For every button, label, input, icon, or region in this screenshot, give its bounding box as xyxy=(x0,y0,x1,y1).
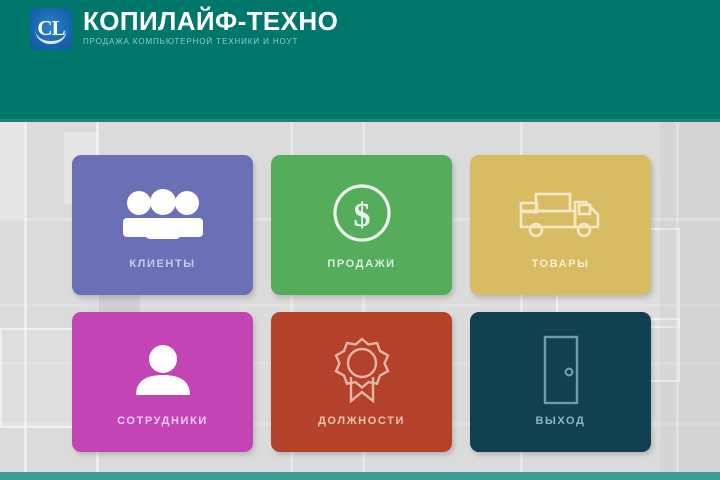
door-exit-icon xyxy=(538,338,584,402)
main-menu-grid: КЛИЕНТЫ $ ПРОДАЖИ xyxy=(72,155,650,452)
menu-tile-clients[interactable]: КЛИЕНТЫ xyxy=(72,155,253,295)
footer-strip xyxy=(0,472,720,480)
single-person-icon xyxy=(132,338,194,402)
menu-tile-label: ВЫХОД xyxy=(535,415,585,427)
menu-tile-exit[interactable]: ВЫХОД xyxy=(470,312,651,452)
menu-tile-label: ДОЛЖНОСТИ xyxy=(318,415,405,427)
svg-text:$: $ xyxy=(353,197,370,234)
brand: CL КОПИЛАЙФ-ТЕХНО ПРОДАЖА КОМПЬЮТЕРНОЙ Т… xyxy=(30,6,338,50)
menu-tile-label: ТОВАРЫ xyxy=(531,258,589,270)
award-medal-icon xyxy=(330,338,394,402)
group-of-people-icon xyxy=(121,181,205,245)
logo-swoosh xyxy=(35,29,67,44)
menu-tile-sales[interactable]: $ ПРОДАЖИ xyxy=(271,155,452,295)
app-window: CL КОПИЛАЙФ-ТЕХНО ПРОДАЖА КОМПЬЮТЕРНОЙ Т… xyxy=(0,0,720,480)
dollar-coin-icon: $ xyxy=(331,181,393,245)
menu-tile-label: ПРОДАЖИ xyxy=(327,258,395,270)
app-subtitle: ПРОДАЖА КОМПЬЮТЕРНОЙ ТЕХНИКИ И НОУТ xyxy=(83,36,338,47)
menu-tile-goods[interactable]: ТОВАРЫ xyxy=(470,155,651,295)
menu-tile-label: КЛИЕНТЫ xyxy=(129,258,195,270)
menu-tile-positions[interactable]: ДОЛЖНОСТИ xyxy=(271,312,452,452)
app-title: КОПИЛАЙФ-ТЕХНО xyxy=(83,6,338,36)
menu-tile-employees[interactable]: СОТРУДНИКИ xyxy=(72,312,253,452)
app-header: CL КОПИЛАЙФ-ТЕХНО ПРОДАЖА КОМПЬЮТЕРНОЙ Т… xyxy=(0,0,720,122)
menu-tile-label: СОТРУДНИКИ xyxy=(117,415,208,427)
delivery-truck-icon xyxy=(516,181,606,245)
cl-monogram-logo-icon: CL xyxy=(30,8,72,50)
